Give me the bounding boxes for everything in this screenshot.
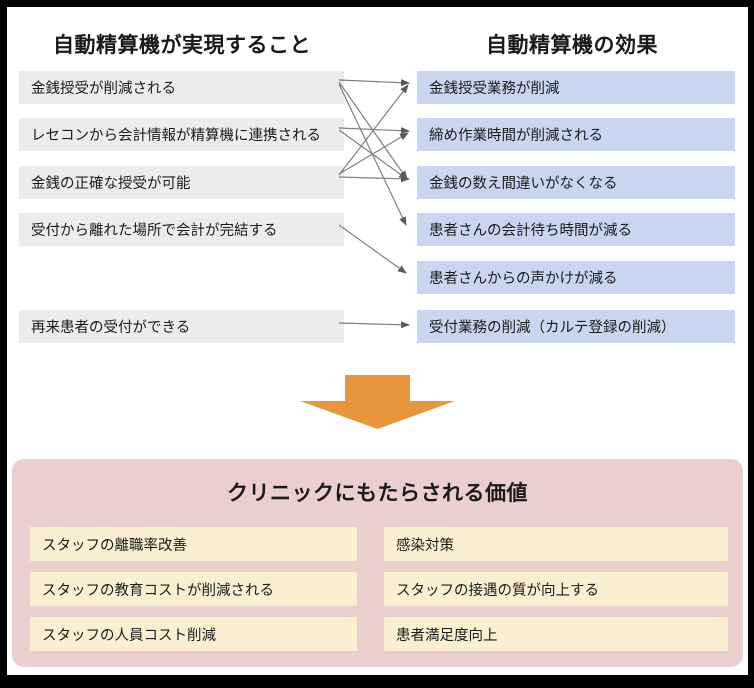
value-item-box: 感染対策 [384,527,728,561]
arrow-l2-r3b [339,130,407,179]
value-item-label: スタッフの教育コストが削減される [42,579,274,600]
arrow-l1-r3 [339,82,407,179]
value-item-label: 患者満足度向上 [396,624,498,645]
right-item-label: 金銭の数え間違いがなくなる [429,172,618,193]
left-item-box: 金銭授受が削減される [19,71,344,104]
diagram-canvas: 自動精算機が実現すること 自動精算機の効果 金銭授受が削減される レセコンから会… [7,7,748,675]
right-item-label: 受付業務の削減（カルテ登録の削減） [429,316,676,337]
right-item-box: 締め作業時間が削減される [417,118,735,151]
value-panel-title: クリニックにもたらされる価値 [12,477,743,507]
left-item-box: 受付から離れた場所で会計が完結する [19,213,344,246]
value-item-label: スタッフの接遇の質が向上する [396,579,599,600]
value-item-box: スタッフの教育コストが削減される [30,572,357,606]
left-item-box: 金銭の正確な授受が可能 [19,166,344,199]
left-item-box: レセコンから会計情報が精算機に連携される [19,118,344,151]
arrow-l5-r6 [339,323,409,325]
right-item-label: 締め作業時間が削減される [429,124,603,145]
arrow-l4-r5 [339,225,406,273]
left-column-title: 自動精算機が実現すること [17,29,347,59]
arrow-l3-r2 [339,133,408,174]
right-item-box: 患者さんの会計待ち時間が減る [417,213,735,246]
right-item-box: 受付業務の削減（カルテ登録の削減） [417,310,735,343]
left-item-box: 再来患者の受付ができる [19,310,344,343]
value-item-box: スタッフの接遇の質が向上する [384,572,728,606]
arrow-l1-r1 [339,80,409,83]
value-item-label: スタッフの人員コスト削減 [42,624,216,645]
right-item-box: 患者さんからの声かけが減る [417,261,735,294]
arrow-l2-r2 [339,128,409,131]
arrow-l3-r1 [339,85,408,175]
arrow-l3-r3 [339,177,409,179]
left-item-label: レセコンから会計情報が精算機に連携される [31,124,321,145]
left-item-label: 再来患者の受付ができる [31,316,190,337]
right-item-box: 金銭授受業務が削減 [417,71,735,104]
right-item-box: 金銭の数え間違いがなくなる [417,166,735,199]
arrow-l1-r4 [339,84,406,225]
value-item-label: スタッフの離職率改善 [42,534,187,555]
value-panel: クリニックにもたらされる価値 スタッフの離職率改善 スタッフの教育コストが削減さ… [12,459,743,667]
right-item-label: 患者さんからの声かけが減る [429,267,618,288]
right-item-label: 金銭授受業務が削減 [429,77,560,98]
left-item-label: 受付から離れた場所で会計が完結する [31,219,278,240]
value-item-box: スタッフの人員コスト削減 [30,617,357,651]
left-item-label: 金銭の正確な授受が可能 [31,172,191,193]
right-item-label: 患者さんの会計待ち時間が減る [429,219,632,240]
right-column-title: 自動精算機の効果 [407,29,737,59]
left-item-label: 金銭授受が削減される [31,77,176,98]
value-item-box: 患者満足度向上 [384,617,728,651]
down-arrow-icon [300,375,455,429]
value-item-label: 感染対策 [396,534,454,555]
value-item-box: スタッフの離職率改善 [30,527,357,561]
